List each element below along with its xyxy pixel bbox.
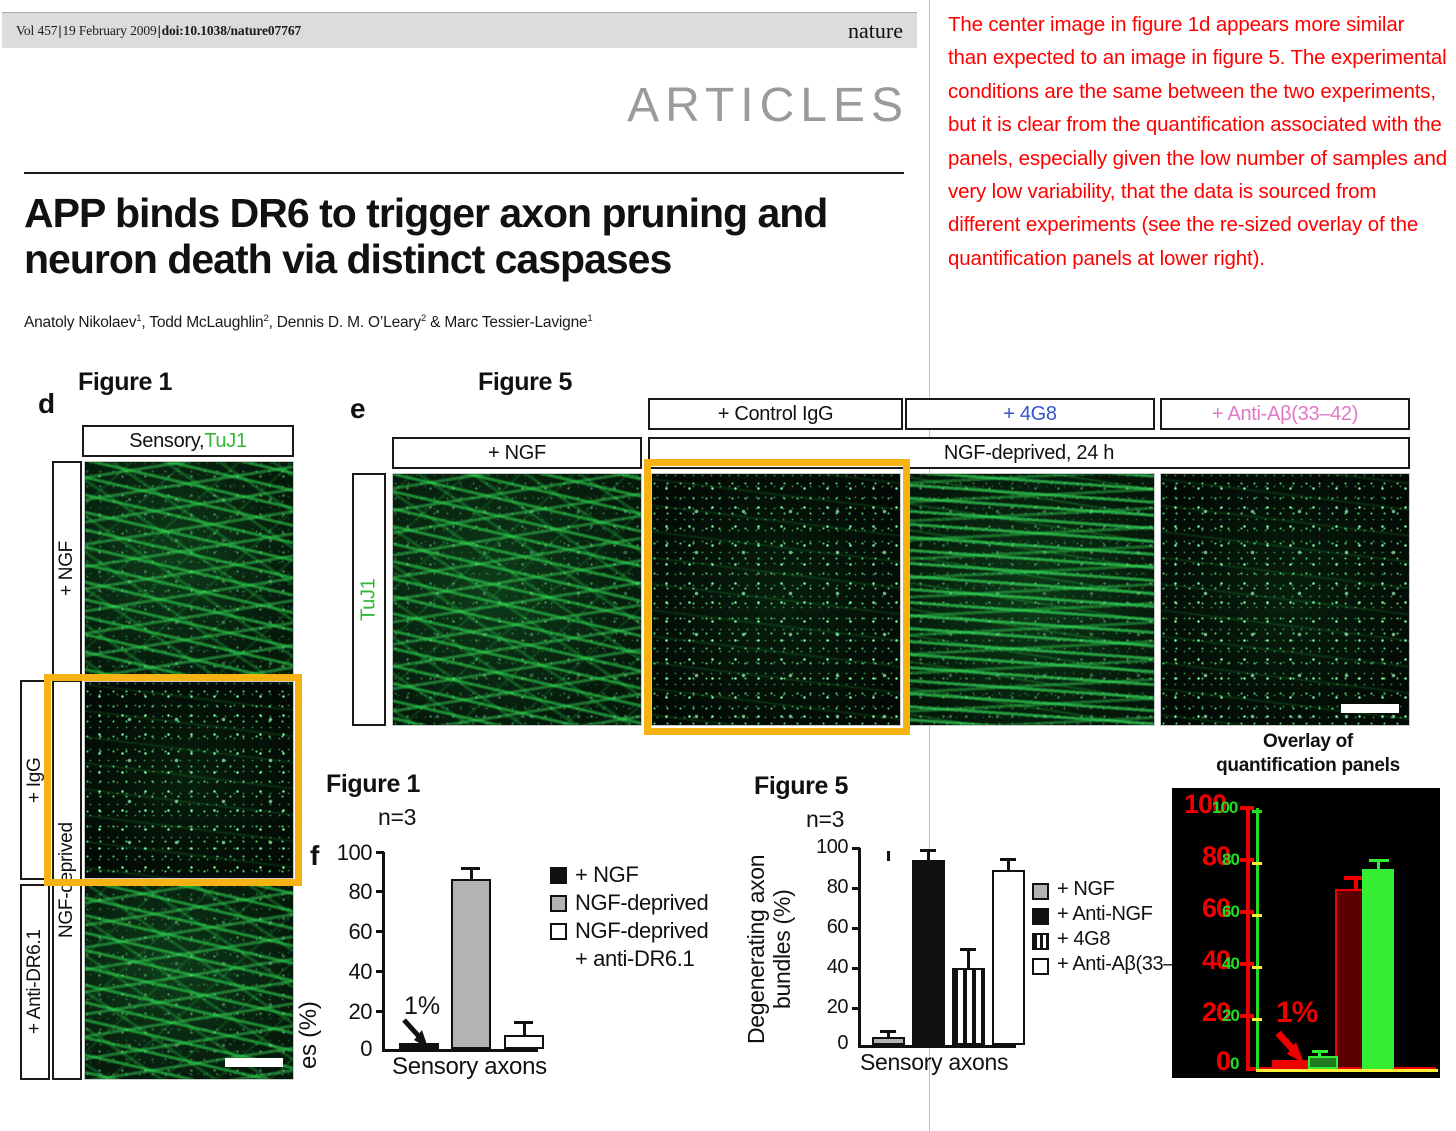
page-title: APP binds DR6 to trigger axon pruning an… — [24, 190, 914, 283]
figure1-micrograph-ngf-deprived-igg — [84, 681, 294, 879]
legend-row: + anti-DR6.1 — [550, 946, 750, 972]
figure5-panel-letter-e: e — [350, 393, 366, 425]
y-tick-80 — [852, 887, 860, 890]
y-ticklabel-40: 40 — [790, 956, 848, 979]
nature-logo: nature — [848, 18, 903, 44]
legend-label-ngf: + NGF — [575, 862, 638, 888]
punctate-debris-texture — [393, 474, 641, 725]
figure1f-bar-chart: 100 80 60 40 20 0 1% Sensory axons es (%… — [300, 840, 740, 1090]
overlay-green-ticklabel-0: 0 — [1230, 1054, 1238, 1074]
y-tick-40 — [852, 967, 860, 970]
journal-date: 19 February 2009 — [62, 23, 156, 38]
overlay-green-tick-60 — [1252, 914, 1262, 917]
y-ticklabel-60: 60 — [310, 919, 372, 945]
figure1-panel-letter-d: d — [38, 388, 55, 420]
figure5-micrograph-4g8 — [905, 473, 1155, 726]
y-axis — [382, 852, 385, 1052]
punctate-debris-texture — [1161, 474, 1409, 725]
legend-label-anti-ngf: + Anti-NGF — [1057, 903, 1152, 926]
figure5-label-4g8-text: + 4G8 — [1003, 403, 1057, 426]
legend-swatch-black-icon — [1032, 908, 1049, 925]
figure5-chart-sample-size: n=3 — [806, 806, 844, 833]
errorbar-cap — [514, 1021, 533, 1024]
y-ticklabel-80: 80 — [790, 876, 848, 899]
legend-swatch-black-icon — [550, 867, 567, 884]
figure5-label-anti-abeta-text: + Anti-Aβ(33–42) — [1212, 403, 1358, 426]
section-heading: ARTICLES — [627, 78, 909, 133]
scale-bar — [1341, 704, 1399, 713]
figure5-micrograph-anti-abeta — [1160, 473, 1410, 726]
errorbar-cap — [461, 867, 480, 870]
legend-swatch-white-icon — [1032, 958, 1049, 975]
y-axis — [858, 848, 861, 1048]
overlay-title-line1: Overlay of — [1172, 730, 1444, 754]
figure5-micrograph-control-igg — [651, 473, 901, 726]
y-ticklabel-100: 100 — [310, 840, 372, 866]
journal-masthead: Vol 457|19 February 2009|doi:10.1038/nat… — [2, 12, 917, 48]
legend-label-ngf: + NGF — [1057, 878, 1114, 901]
overlay-green-ticklabel-100: 100 — [1212, 798, 1237, 818]
y-tick-60 — [852, 927, 860, 930]
overlay-quantification-plot: 100 80 60 40 20 0 100 80 60 40 20 0 1% — [1172, 788, 1440, 1078]
figure5-label-ngf-deprived-24h: NGF-deprived, 24 h — [648, 437, 1410, 469]
y-ticklabel-100: 100 — [790, 836, 848, 859]
errorbar-cap — [920, 849, 936, 852]
overlay-green-tick-20 — [1252, 1018, 1262, 1021]
punctate-debris-texture — [85, 682, 293, 878]
scale-bar — [225, 1058, 283, 1067]
figure1f-chart-heading: Figure 1 — [326, 770, 420, 799]
legend-label-ngf-deprived-2: NGF-deprived — [575, 918, 708, 944]
legend-row: + NGF — [550, 862, 750, 888]
bar-anti-ngf — [912, 860, 945, 1045]
x-axis — [858, 1045, 1016, 1048]
errorbar-4g8 — [967, 948, 970, 969]
y-tick-20 — [852, 1007, 860, 1010]
y-ticklabel-20: 20 — [790, 996, 848, 1019]
y-tick-100 — [852, 847, 860, 850]
overlay-green-tick-40 — [1252, 966, 1262, 969]
legend-row: NGF-deprived — [550, 918, 750, 944]
annotation-one-percent: 1% — [404, 992, 440, 1021]
overlay-red-ticklabel-0: 0 — [1216, 1046, 1230, 1077]
legend-swatch-gray-icon — [550, 895, 567, 912]
punctate-debris-texture — [85, 885, 293, 1079]
figure5-micrograph-ngf — [392, 473, 642, 726]
figure1-tuj1-marker: TuJ1 — [204, 430, 247, 453]
overlay-red-y-axis — [1246, 806, 1250, 1071]
legend-label-4g8: + 4G8 — [1057, 928, 1110, 951]
legend-swatch-gray-icon — [1032, 883, 1049, 900]
punctate-debris-texture — [85, 462, 293, 676]
punctate-debris-texture — [906, 474, 1154, 725]
legend-row: NGF-deprived — [550, 890, 750, 916]
overlay-arrow-icon — [1272, 1031, 1316, 1067]
y-ticklabel-80: 80 — [310, 879, 372, 905]
overlay-green-ticklabel-80: 80 — [1222, 850, 1239, 870]
figure1f-legend: + NGF NGF-deprived NGF-deprived + anti-D… — [550, 862, 750, 974]
errorbar-ngf-stem — [887, 1030, 890, 1038]
y-axis-label-partial: es (%) — [296, 990, 323, 1080]
y-tick-80 — [376, 890, 384, 893]
overlay-green-ticklabel-60: 60 — [1222, 902, 1239, 922]
figure1-column-header: Sensory, TuJ1 — [82, 425, 294, 457]
bar-ngf — [872, 1037, 905, 1045]
x-axis-label: Sensory axons — [860, 1049, 1008, 1076]
overlay-title-line2: quantification panels — [1172, 754, 1444, 778]
figure5-chart-heading: Figure 5 — [754, 772, 848, 801]
figure5-label-4g8: + 4G8 — [905, 398, 1155, 430]
y-ticklabel-0: 0 — [790, 1032, 848, 1055]
figure1-row-label-ngf: + NGF — [52, 461, 82, 677]
journal-volume: Vol 457 — [16, 23, 57, 38]
errorbar-cap — [1000, 858, 1016, 861]
overlay-green-x-axis — [1256, 1069, 1438, 1072]
figure5-label-anti-abeta: + Anti-Aβ(33–42) — [1160, 398, 1410, 430]
y-ticklabel-40: 40 — [310, 959, 372, 985]
journal-doi: doi:10.1038/nature07767 — [162, 23, 302, 38]
y-tick-100 — [376, 851, 384, 854]
arrow-icon — [400, 1018, 440, 1052]
figure5-side-label-tuj1: TuJ1 — [352, 473, 386, 726]
errorbar-ngf — [887, 851, 890, 861]
overlay-title: Overlay of quantification panels — [1172, 730, 1444, 778]
overlay-green-ticklabel-40: 40 — [1222, 954, 1239, 974]
figure1-micrograph-ngf — [84, 461, 294, 677]
y-tick-40 — [376, 970, 384, 973]
overlay-green-tick-100 — [1252, 810, 1262, 813]
legend-swatch-striped-icon — [1032, 933, 1049, 950]
errorbar-cap — [960, 948, 976, 951]
y-axis-label: Degenerating axon bundles (%) — [744, 854, 792, 1044]
legend-label-anti-dr6: + anti-DR6.1 — [575, 946, 694, 972]
figure5-tuj1-text: TuJ1 — [358, 578, 381, 621]
overlay-green-tick-80 — [1252, 862, 1262, 865]
figure1f-sample-size: n=3 — [378, 804, 416, 831]
y-tick-60 — [376, 930, 384, 933]
legend-label-ngf-deprived: NGF-deprived — [575, 890, 708, 916]
figure5-bar-chart: 100 80 60 40 20 0 Sensory axons Degenera… — [740, 840, 1180, 1090]
overlay-green-errorcap-2 — [1369, 859, 1389, 862]
punctate-debris-texture — [652, 474, 900, 725]
figure5-label-control-igg: + Control IgG — [648, 398, 903, 430]
x-axis-label: Sensory axons — [392, 1053, 547, 1081]
figure1-heading: Figure 1 — [78, 368, 172, 397]
bar-ngf-deprived — [451, 879, 491, 1049]
figure5-heading: Figure 5 — [478, 368, 572, 397]
figure1-micrograph-ngf-deprived-anti-dr6 — [84, 884, 294, 1080]
y-ticklabel-60: 60 — [790, 916, 848, 939]
title-rule-divider — [24, 172, 904, 174]
bar-anti-abeta — [992, 870, 1025, 1045]
overlay-green-ticklabel-20: 20 — [1222, 1006, 1239, 1026]
overlay-green-bar-2 — [1362, 869, 1394, 1069]
author-list: Anatoly Nikolaev1, Todd McLaughlin2, Den… — [24, 313, 914, 332]
figure1-group-label-ngf-deprived: NGF-deprived — [52, 680, 82, 1080]
figure1-row-label-igg: + IgG — [20, 680, 50, 880]
legend-swatch-white-icon — [550, 923, 567, 940]
y-tick-20 — [376, 1010, 384, 1013]
figure1-column-header-text: Sensory, — [129, 430, 204, 453]
figure5-label-ngf: + NGF — [392, 437, 642, 469]
overlay-green-y-axis — [1256, 808, 1259, 1070]
overlay-annotation-one-percent: 1% — [1276, 996, 1317, 1030]
figure1-row-label-anti-dr6: + Anti-DR6.1 — [20, 884, 50, 1080]
bar-4g8 — [952, 968, 985, 1045]
reviewer-annotation-text: The center image in figure 1d appears mo… — [948, 8, 1448, 275]
journal-citation-line: Vol 457|19 February 2009|doi:10.1038/nat… — [16, 23, 301, 39]
bar-ngf-deprived-anti-dr6 — [504, 1035, 544, 1049]
